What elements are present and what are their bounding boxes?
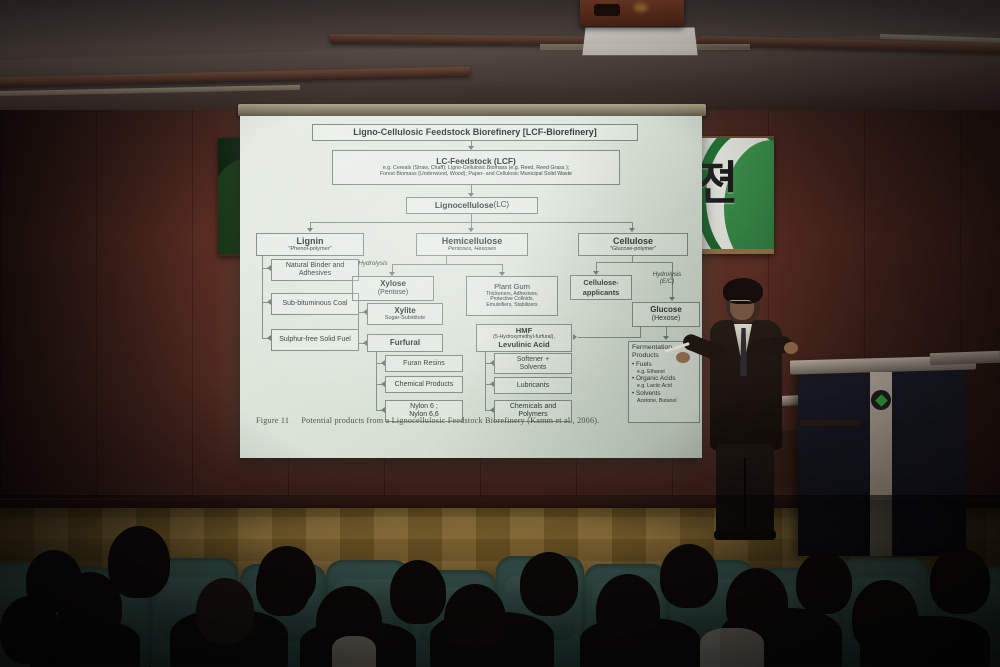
box-furfural-product: Furan Resins	[385, 355, 463, 372]
box-header-label: Ligno-Cellulosic Feedstock Biorefinery […	[353, 127, 597, 137]
connector	[376, 352, 377, 410]
box-hemicellulose-title: Hemicellulose	[442, 236, 503, 246]
audience-member-shirt	[332, 636, 376, 667]
presenter-left-hand	[676, 352, 690, 363]
box-xylite-title: Xylite	[394, 307, 415, 316]
institution-logo-mark	[875, 394, 888, 407]
audience-member-head	[390, 560, 446, 624]
audience-member-head	[108, 526, 170, 598]
connector-bus	[596, 262, 672, 263]
box-xylite-subtitle: Sugar-Substitute	[385, 315, 425, 321]
arrow-head	[468, 228, 474, 232]
fermentation-item-sub: Acetone, Butanol	[632, 398, 696, 405]
box-cellulose-applicants-label: Cellulose-applicants	[573, 278, 629, 297]
label-hydrolysis-left: Hydrolysis	[344, 260, 402, 267]
box-hemicellulose-subtitle: Pentoses, Hexoses	[448, 246, 496, 252]
box-cellulose: Cellulose "Glucose-polymer"	[578, 233, 688, 256]
connector	[485, 352, 486, 410]
box-furfural: Furfural	[367, 334, 443, 352]
box-hmf: HMF (5-Hydroxymethyl-furfural), Levulini…	[476, 324, 572, 352]
arrow-head	[307, 228, 313, 232]
box-furfural-title: Furfural	[390, 339, 420, 348]
projection-screen-surface: Ligno-Cellulosic Feedstock Biorefinery […	[240, 116, 702, 458]
box-lc-feedstock-line2: Forest Biomass (Underwood, Wood); Paper-…	[380, 172, 572, 178]
banner-right: 젼	[690, 136, 774, 254]
connector	[358, 301, 359, 343]
box-hmf-product: Lubricants	[494, 377, 572, 394]
figure-caption-number: Figure 11	[256, 416, 289, 425]
box-xylite: Xylite Sugar-Substitute	[367, 303, 443, 325]
figure-caption-text: Potential products from a Lignocellulosi…	[301, 416, 599, 425]
box-lc-feedstock: LC-Feedstock (LCF) e.g. Cereals (Straw, …	[332, 150, 620, 185]
institution-logo	[871, 390, 891, 410]
audience-member-head	[852, 580, 918, 654]
projection-screen: Ligno-Cellulosic Feedstock Biorefinery […	[240, 116, 702, 458]
audience-member-head	[930, 548, 990, 614]
projector-lamp-glow	[634, 3, 648, 12]
audience-member-head	[596, 574, 660, 646]
fermentation-item-bullet: • Organic Acids	[632, 375, 696, 383]
box-lignin-product-label: Sulphur-free Solid Fuel	[279, 336, 351, 344]
box-xylose-title: Xylose	[380, 280, 406, 289]
box-plant-gum-line3: Emulsifiers, Stabilizers	[486, 303, 537, 309]
connector	[471, 214, 472, 222]
box-cellulose-subtitle: "Glucose-polymer"	[610, 246, 656, 252]
label-hydrolysis-right-line2: (E/C)	[636, 279, 698, 286]
box-lignin-subtitle: "Phenol-polymer"	[288, 246, 331, 252]
audience-member-head	[0, 596, 60, 664]
box-plant-gum: Plant Gum Thickeners, Adhesives, Protect…	[466, 276, 558, 316]
connector	[446, 256, 447, 264]
banner-right-text: 젼	[696, 160, 738, 206]
lectern-shelf	[800, 420, 860, 426]
audience-member-head	[258, 546, 316, 606]
arrow-head	[573, 334, 577, 340]
audience-member-head	[660, 544, 718, 608]
box-lignin-product-label: Sub-bituminous Coal	[283, 300, 348, 308]
presenter-right-hand	[784, 342, 798, 354]
slide-diagram: Ligno-Cellulosic Feedstock Biorefinery […	[240, 116, 702, 458]
box-hmf-product-label: Softener + Solvents	[517, 356, 550, 372]
label-hydrolysis-right: Hydrolysis (E/C)	[636, 272, 698, 286]
box-furfural-product-label: Chemical Products	[395, 381, 454, 389]
ceiling-projector	[580, 0, 684, 26]
box-glucose-subtitle: (Hexose)	[652, 315, 680, 323]
box-lignocellulose-bold: Lignocellulose	[435, 201, 494, 210]
box-hmf-product-label: Lubricants	[517, 382, 549, 390]
banner-right-bottom-bar	[690, 249, 774, 254]
presenter-glasses	[729, 300, 751, 306]
box-xylose: Xylose (Pentose)	[352, 276, 434, 301]
audience-member-head	[58, 572, 122, 642]
projector-baffle	[582, 27, 697, 55]
wall-shadow-left	[0, 110, 220, 530]
box-lignin: Lignin "Phenol-polymer"	[256, 233, 364, 256]
audience	[0, 500, 1000, 667]
lectern-top-surface-far	[930, 351, 1000, 365]
box-cellulose-applicants: Cellulose-applicants	[570, 275, 632, 300]
box-furfural-product-label: Furan Resins	[403, 360, 445, 368]
box-lignocellulose-plain: (LC)	[494, 201, 510, 210]
connector-bus	[392, 264, 502, 265]
audience-member-shirt	[700, 628, 764, 667]
box-lignin-product: Sub-bituminous Coal	[271, 293, 359, 315]
box-lignin-title: Lignin	[297, 236, 324, 246]
audience-member-head	[444, 584, 506, 654]
audience-member-head	[796, 552, 852, 614]
box-glucose-title: Glucose	[650, 306, 682, 315]
banner-right-top-bar	[690, 136, 774, 138]
arrow-head	[669, 297, 675, 301]
projection-screen-roller	[238, 104, 706, 116]
connector	[640, 327, 641, 338]
box-xylose-subtitle: (Pentose)	[378, 289, 408, 297]
connector	[578, 337, 640, 338]
projector-lens	[594, 4, 620, 16]
box-hmf-line3: Levulinic Acid	[498, 341, 549, 350]
fermentation-item-bullet: • Solvents	[632, 390, 696, 398]
figure-caption: Figure 11 Potential products from a Lign…	[256, 416, 692, 425]
box-hemicellulose: Hemicellulose Pentoses, Hexoses	[416, 233, 528, 256]
audience-member-head	[520, 552, 578, 616]
arrow-head	[629, 228, 635, 232]
box-lignin-product: Sulphur-free Solid Fuel	[271, 329, 359, 351]
lecture-hall-scene: 젼 Ligno-Cellulosic Feedstock Biorefinery…	[0, 0, 1000, 667]
arrow-head	[663, 336, 669, 340]
box-header: Ligno-Cellulosic Feedstock Biorefinery […	[312, 124, 638, 141]
box-hmf-product: Softener + Solvents	[494, 353, 572, 374]
box-furfural-product: Chemical Products	[385, 376, 463, 393]
box-cellulose-title: Cellulose	[613, 236, 653, 246]
box-lignocellulose: Lignocellulose (LC)	[406, 197, 538, 214]
audience-member-head	[196, 578, 254, 644]
